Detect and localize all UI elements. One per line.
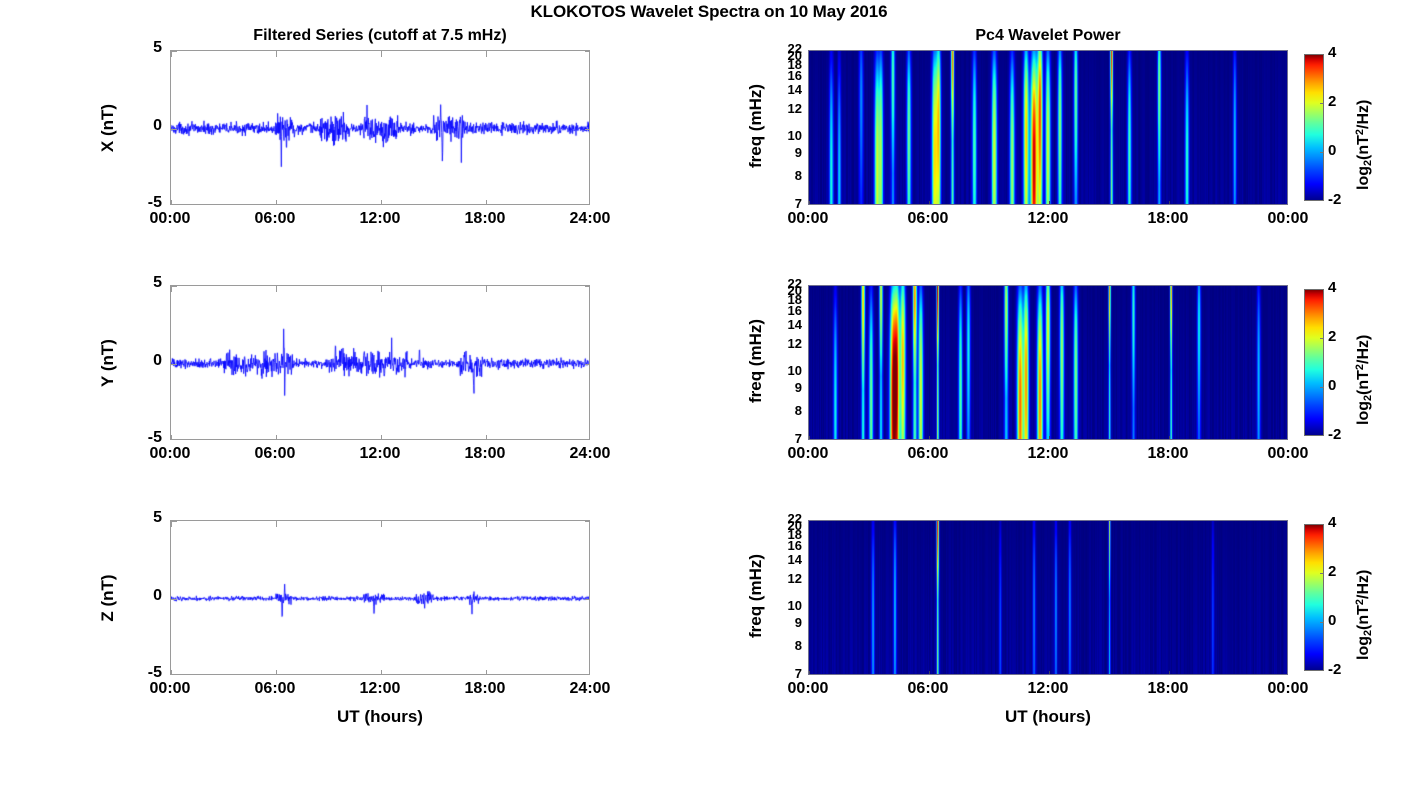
y-axis-label: Z (nT) (98, 558, 118, 638)
x-tick-label: 18:00 (445, 680, 525, 698)
x-tick-label: 06:00 (235, 680, 315, 698)
x-tick-mark (171, 670, 172, 675)
freq-tick-label: 12 (768, 336, 802, 351)
x-tick-label: 24:00 (550, 210, 630, 228)
wavelet-spectrogram-y (808, 285, 1288, 440)
colorbar-tick-mark (1320, 622, 1324, 623)
freq-tick-label: 7 (768, 196, 802, 211)
freq-tick-label: 14 (768, 317, 802, 332)
freq-tick-label: 16 (768, 303, 802, 318)
x-tick-mark (276, 521, 277, 527)
figure-title: KLOKOTOS Wavelet Spectra on 10 May 2016 (0, 2, 1418, 22)
x-tick-mark (381, 286, 382, 292)
x-tick-label: 00:00 (130, 680, 210, 698)
x-tick-label: 06:00 (888, 210, 968, 228)
x-tick-label: 00:00 (768, 680, 848, 698)
x-tick-mark (276, 286, 277, 292)
freq-tick-label: 9 (768, 145, 802, 160)
x-tick-mark (1169, 201, 1170, 205)
x-tick-label: 12:00 (340, 210, 420, 228)
x-tick-mark (381, 51, 382, 57)
x-tick-mark (276, 51, 277, 57)
freq-tick-label: 16 (768, 68, 802, 83)
x-tick-label: 06:00 (235, 210, 315, 228)
colorbar-tick-label: 4 (1328, 514, 1336, 531)
x-tick-label: 00:00 (130, 210, 210, 228)
colorbar-tick-label: 0 (1328, 612, 1336, 629)
colorbar-tick-label: 2 (1328, 563, 1336, 580)
left-column-title: Filtered Series (cutoff at 7.5 mHz) (170, 27, 590, 45)
colorbar-tick-label: 4 (1328, 44, 1336, 61)
x-tick-mark (1049, 201, 1050, 205)
freq-tick-label: 9 (768, 380, 802, 395)
x-tick-mark (381, 435, 382, 440)
colorbar (1304, 524, 1324, 671)
freq-tick-label: 7 (768, 666, 802, 681)
colorbar-tick-mark (1320, 573, 1324, 574)
x-tick-mark (381, 521, 382, 527)
colorbar-tick-label: -2 (1328, 191, 1341, 208)
x-tick-mark (486, 51, 487, 57)
x-tick-mark (171, 200, 172, 205)
right-column-title: Pc4 Wavelet Power (808, 27, 1288, 45)
freq-tick-label: 7 (768, 431, 802, 446)
x-tick-mark (809, 436, 810, 440)
freq-tick-label: 12 (768, 571, 802, 586)
y-tick-label: 5 (122, 509, 162, 527)
x-tick-mark (1169, 671, 1170, 675)
x-tick-mark (381, 200, 382, 205)
x-tick-label: 00:00 (1248, 680, 1328, 698)
colorbar (1304, 54, 1324, 201)
x-tick-mark (929, 201, 930, 205)
y-tick-mark (585, 286, 590, 287)
x-tick-label: 18:00 (1128, 445, 1208, 463)
freq-tick-label: 8 (768, 638, 802, 653)
x-tick-label: 18:00 (445, 210, 525, 228)
colorbar-label: log2(nT2/Hz) (1354, 99, 1374, 189)
x-tick-label: 06:00 (888, 445, 968, 463)
colorbar-label: log2(nT2/Hz) (1354, 569, 1374, 659)
x-tick-label: 24:00 (550, 445, 630, 463)
x-tick-mark (929, 436, 930, 440)
y-tick-mark (171, 521, 177, 522)
colorbar-tick-mark (1320, 103, 1324, 104)
y-tick-mark (171, 599, 177, 600)
spectrogram-image (809, 521, 1287, 674)
x-tick-label: 00:00 (768, 445, 848, 463)
colorbar-label: log2(nT2/Hz) (1354, 334, 1374, 424)
freq-tick-label: 8 (768, 403, 802, 418)
spectrogram-image (809, 286, 1287, 439)
x-tick-label: 00:00 (130, 445, 210, 463)
y-tick-label: 5 (122, 274, 162, 292)
x-tick-mark (486, 286, 487, 292)
x-tick-label: 18:00 (1128, 210, 1208, 228)
x-tick-mark (929, 671, 930, 675)
freq-axis-label: freq (mHz) (746, 311, 766, 411)
colorbar-tick-mark (1320, 152, 1324, 153)
freq-tick-label: 14 (768, 552, 802, 567)
y-tick-label: 0 (122, 587, 162, 605)
timeseries-trace (171, 51, 590, 205)
freq-tick-label: 12 (768, 101, 802, 116)
freq-tick-label: 9 (768, 615, 802, 630)
y-tick-mark (171, 364, 177, 365)
timeseries-plot-x (170, 50, 590, 205)
figure-canvas: KLOKOTOS Wavelet Spectra on 10 May 2016 … (0, 0, 1418, 788)
colorbar-tick-label: 0 (1328, 142, 1336, 159)
x-tick-label: 00:00 (1248, 210, 1328, 228)
y-axis-label: Y (nT) (98, 323, 118, 403)
wavelet-spectrogram-z (808, 520, 1288, 675)
y-tick-mark (171, 129, 177, 130)
x-tick-label: 12:00 (340, 680, 420, 698)
x-tick-mark (486, 670, 487, 675)
x-tick-label: 12:00 (1008, 680, 1088, 698)
x-tick-mark (809, 671, 810, 675)
freq-axis-label: freq (mHz) (746, 546, 766, 646)
colorbar (1304, 289, 1324, 436)
x-tick-mark (809, 201, 810, 205)
y-tick-mark (585, 129, 590, 130)
y-tick-mark (171, 51, 177, 52)
colorbar-tick-label: -2 (1328, 661, 1341, 678)
x-tick-label: 12:00 (1008, 210, 1088, 228)
x-tick-mark (1169, 436, 1170, 440)
y-tick-label: 0 (122, 352, 162, 370)
freq-tick-label: 10 (768, 363, 802, 378)
freq-tick-label: 14 (768, 82, 802, 97)
x-tick-label: 24:00 (550, 680, 630, 698)
freq-tick-label: 10 (768, 128, 802, 143)
y-axis-label: X (nT) (98, 88, 118, 168)
x-tick-mark (171, 435, 172, 440)
y-tick-mark (585, 51, 590, 52)
colorbar-tick-label: 2 (1328, 328, 1336, 345)
x-tick-label: 00:00 (768, 210, 848, 228)
y-tick-mark (585, 521, 590, 522)
y-tick-mark (585, 599, 590, 600)
colorbar-tick-label: 0 (1328, 377, 1336, 394)
y-tick-label: 5 (122, 39, 162, 57)
timeseries-trace (171, 521, 590, 675)
y-tick-mark (585, 364, 590, 365)
spectrogram-image (809, 51, 1287, 204)
x-tick-mark (381, 670, 382, 675)
y-tick-mark (171, 286, 177, 287)
freq-axis-label: freq (mHz) (746, 76, 766, 176)
x-tick-label: 06:00 (235, 445, 315, 463)
freq-tick-label: 10 (768, 598, 802, 613)
x-tick-mark (1049, 671, 1050, 675)
x-tick-mark (486, 521, 487, 527)
x-tick-mark (1049, 436, 1050, 440)
x-tick-mark (276, 670, 277, 675)
x-tick-label: 06:00 (888, 680, 968, 698)
x-tick-label: 00:00 (1248, 445, 1328, 463)
timeseries-plot-y (170, 285, 590, 440)
timeseries-plot-z (170, 520, 590, 675)
colorbar-tick-label: 2 (1328, 93, 1336, 110)
colorbar-tick-mark (1320, 338, 1324, 339)
x-tick-label: 12:00 (340, 445, 420, 463)
freq-tick-label: 8 (768, 168, 802, 183)
x-tick-mark (486, 200, 487, 205)
x-tick-mark (276, 200, 277, 205)
x-tick-label: 18:00 (445, 445, 525, 463)
x-tick-mark (276, 435, 277, 440)
x-tick-mark (486, 435, 487, 440)
wavelet-spectrogram-x (808, 50, 1288, 205)
colorbar-tick-label: 4 (1328, 279, 1336, 296)
freq-tick-label: 16 (768, 538, 802, 553)
timeseries-trace (171, 286, 590, 440)
y-tick-label: 0 (122, 117, 162, 135)
x-tick-label: 18:00 (1128, 680, 1208, 698)
x-axis-label: UT (hours) (808, 707, 1288, 727)
colorbar-tick-label: -2 (1328, 426, 1341, 443)
x-axis-label: UT (hours) (170, 707, 590, 727)
x-tick-label: 12:00 (1008, 445, 1088, 463)
colorbar-tick-mark (1320, 387, 1324, 388)
